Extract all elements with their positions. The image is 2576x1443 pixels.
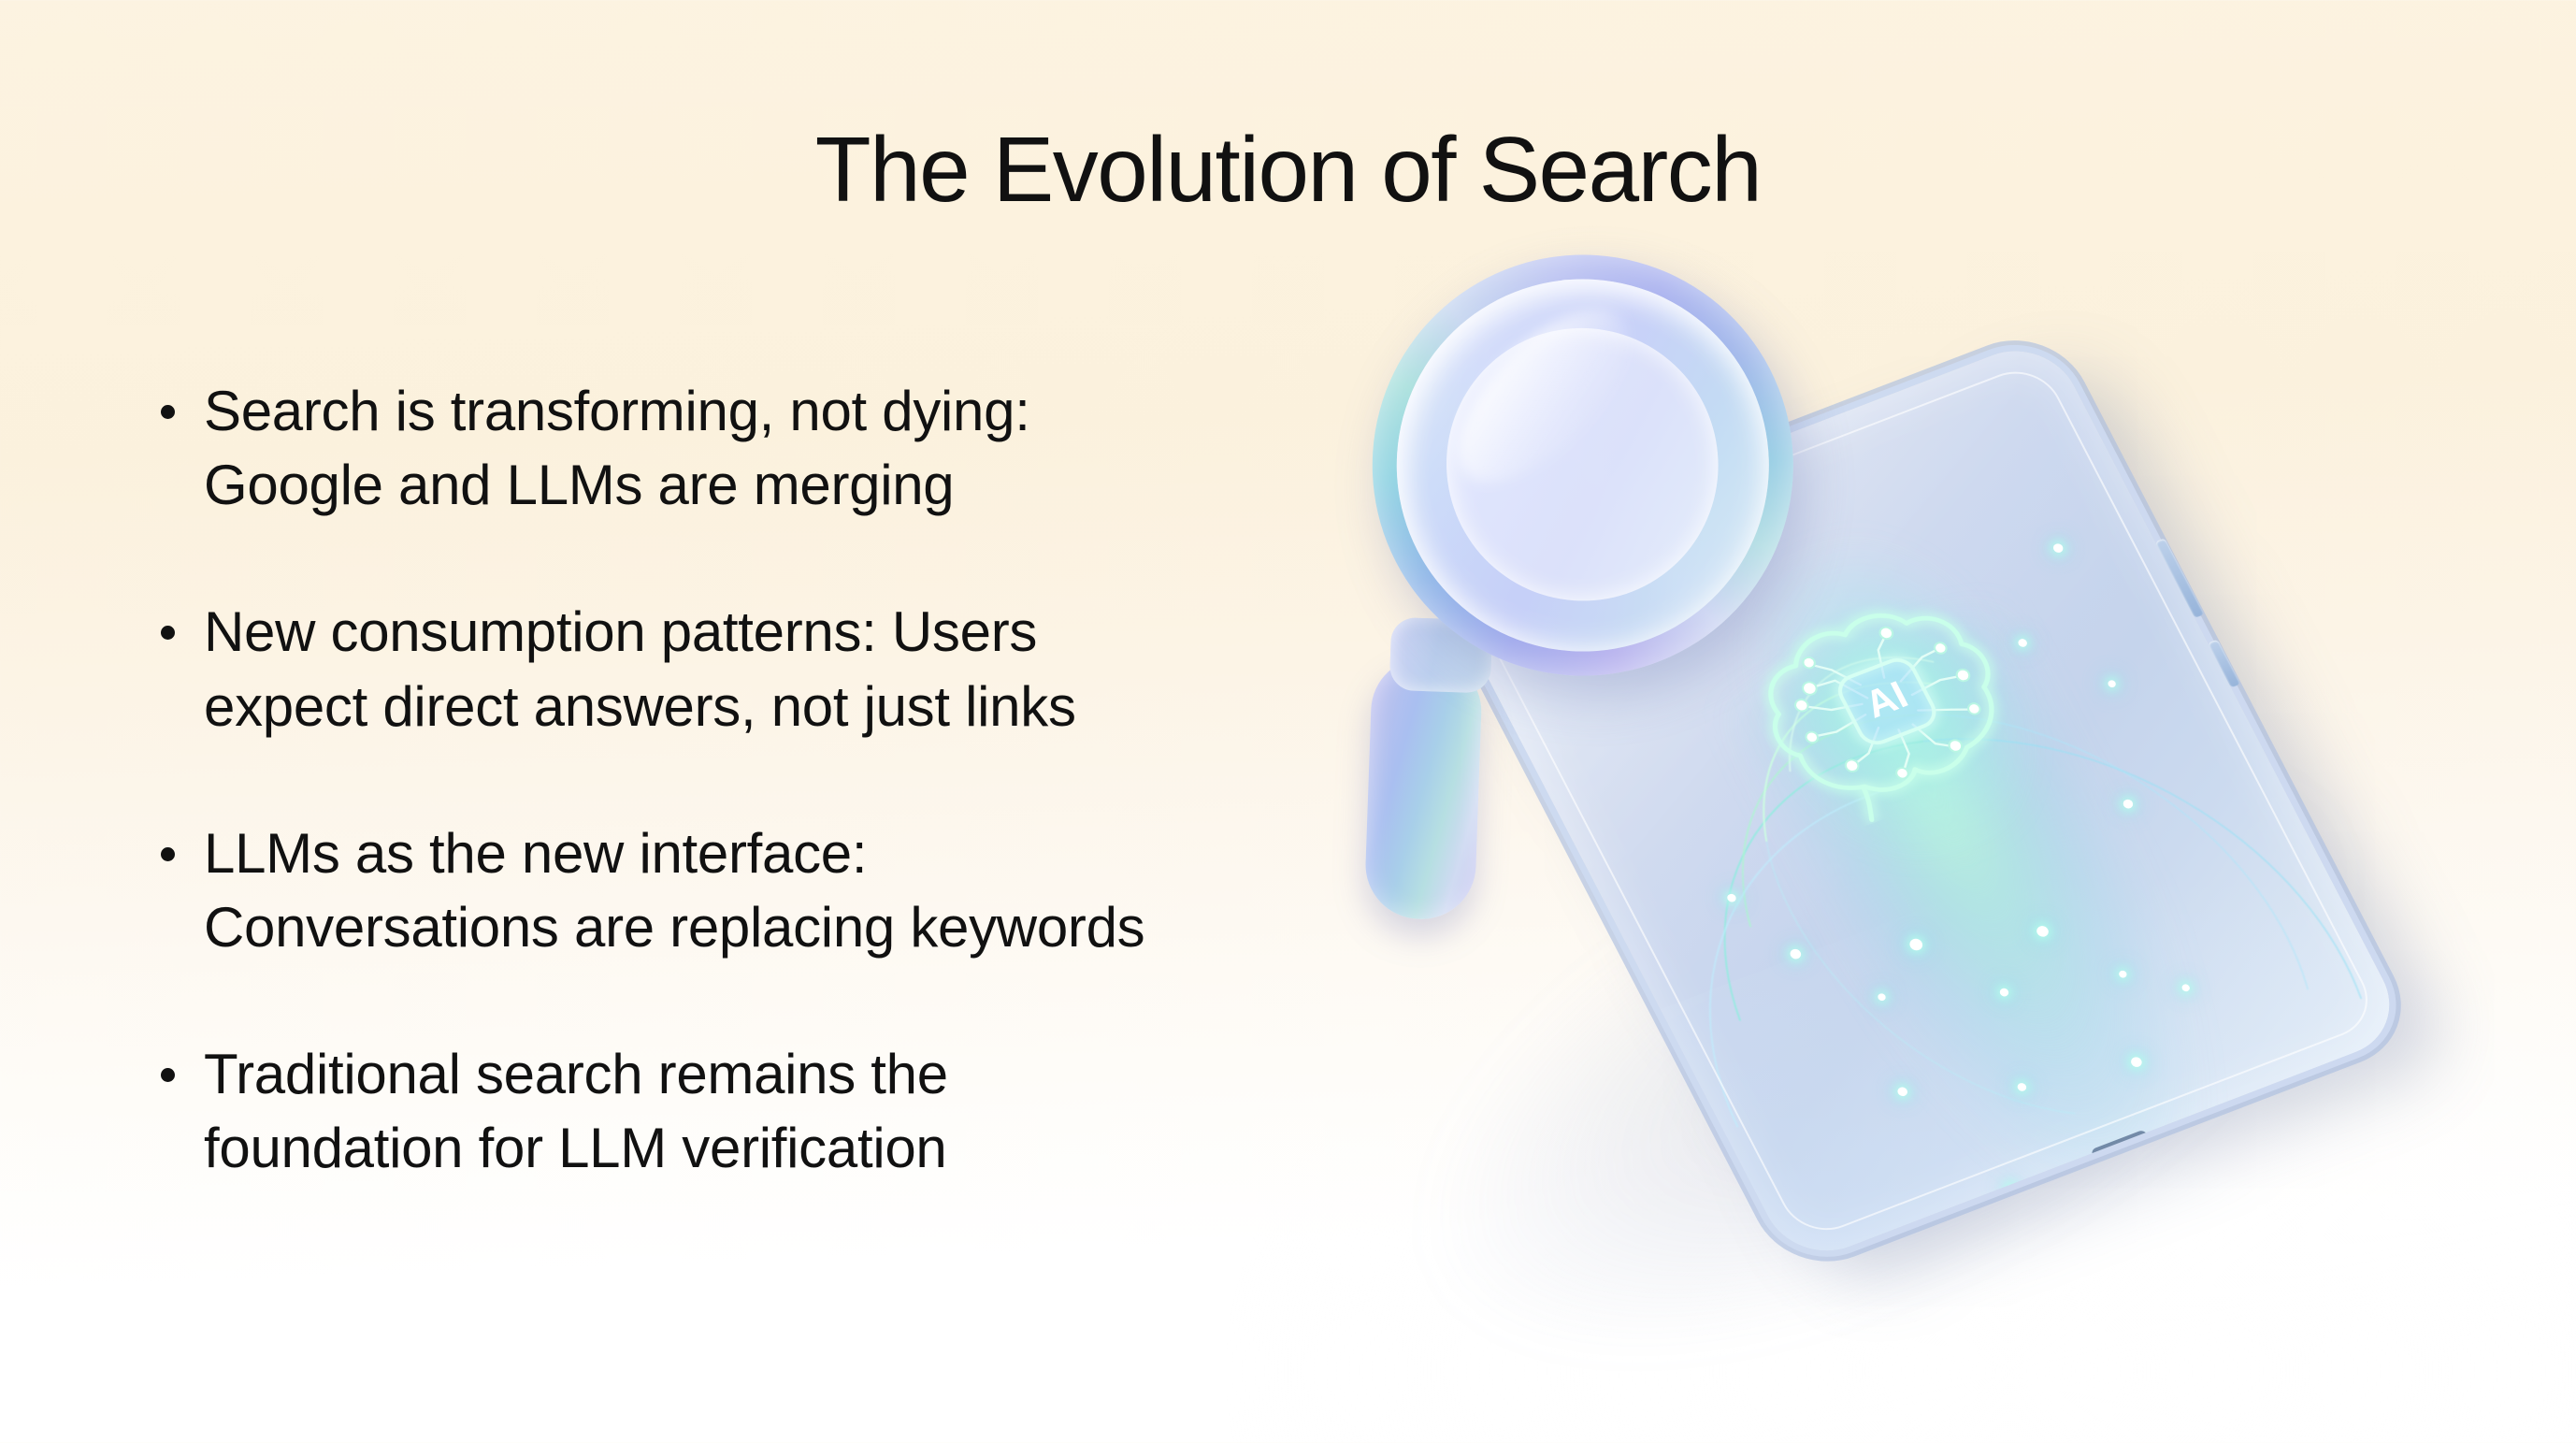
sparkle-particle xyxy=(1789,947,1803,960)
sparkle-particle xyxy=(2123,1166,2136,1176)
list-item: Traditional search remains the foundatio… xyxy=(161,1037,1386,1185)
sparkle-particle xyxy=(2180,983,2191,992)
sparkle-particle xyxy=(2035,924,2051,938)
usb-c-port-icon xyxy=(2090,1129,2150,1161)
sparkle-particle xyxy=(1907,937,1924,952)
list-item: LLMs as the new interface: Conversations… xyxy=(161,816,1386,964)
search-ai-illustration: AI xyxy=(1337,309,2487,1300)
sparkle-particle xyxy=(2129,1056,2143,1069)
sparkle-particle xyxy=(2122,798,2135,809)
slide-root: The Evolution of Search Search is transf… xyxy=(0,0,2576,1443)
sparkle-particle xyxy=(1877,992,1887,1002)
sparkle-particle xyxy=(2051,542,2065,554)
magnifier-handle xyxy=(1364,656,1484,921)
speaker-grille-icon xyxy=(1932,1183,2017,1221)
sparkle-particle xyxy=(1998,988,2010,998)
bullet-text: LLMs as the new interface: Conversations… xyxy=(204,816,1144,964)
bullet-dot-icon xyxy=(161,405,175,419)
sparkle-particle xyxy=(2016,1082,2028,1092)
bullet-list: Search is transforming, not dying: Googl… xyxy=(161,374,1386,1186)
bullet-dot-icon xyxy=(161,1068,175,1082)
bullet-dot-icon xyxy=(161,847,175,861)
sparkle-particle xyxy=(2107,679,2117,688)
tablet-bottom-edge xyxy=(1848,1051,2363,1258)
sparkle-particle xyxy=(2118,970,2128,979)
bullet-dot-icon xyxy=(161,626,175,640)
speaker-grille-icon xyxy=(2174,1090,2259,1129)
magnifier-ring xyxy=(1295,178,1870,753)
bullet-text: New consumption patterns: Users expect d… xyxy=(204,595,1076,743)
sparkle-particle xyxy=(1726,893,1738,903)
sparkle-particle xyxy=(2017,638,2029,648)
sparkle-particle xyxy=(1896,1086,1909,1097)
bullet-text: Traditional search remains the foundatio… xyxy=(204,1037,948,1185)
bullet-text: Search is transforming, not dying: Googl… xyxy=(204,374,1030,522)
